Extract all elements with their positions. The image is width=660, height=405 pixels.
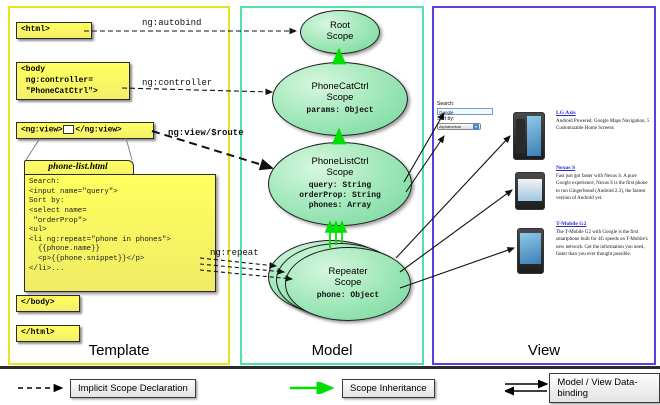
code-box-body-close: </body> — [16, 295, 80, 312]
panel-model-label: Model — [242, 342, 422, 359]
legend-label-implicit: Implicit Scope Declaration — [70, 379, 196, 398]
search-label: Search: — [437, 101, 499, 107]
legend: Implicit Scope Declaration Scope Inherit… — [0, 372, 660, 405]
chevron-down-icon: ▾ — [473, 124, 479, 130]
legend-item-databinding: Model / View Data-binding — [505, 378, 660, 398]
phone-thumbnail-lg-axis — [513, 112, 545, 160]
ngview-open-tag: <ng:view> — [21, 126, 62, 135]
listing-snippet-tmobile-g2: The T-Mobile G2 with Google is the first… — [556, 229, 652, 258]
legend-item-inheritance: Scope Inheritance — [290, 378, 435, 398]
listing-nexus-s: Nexus S Fast just got faster with Nexus … — [556, 165, 652, 202]
scope-root: RootScope — [300, 10, 380, 54]
legend-label-databinding: Model / View Data-binding — [549, 373, 660, 403]
scope-phonecatctrl: PhoneCatCtrlScope params: Object — [272, 62, 408, 136]
connector-label-view-route: ng:view/$route — [168, 128, 244, 138]
legend-label-inheritance: Scope Inheritance — [342, 379, 435, 398]
scope-repeater-props: phone: Object — [317, 291, 379, 301]
connector-label-controller: ng:controller — [142, 78, 212, 88]
legend-green-arrow-icon — [290, 382, 342, 394]
code-box-ngview: <ng:view></ng:view> — [16, 122, 154, 139]
scope-phonelistctrl-props: query: String orderProp: String phones: … — [299, 181, 381, 211]
scope-root-name: RootScope — [327, 21, 354, 42]
scope-phonecatctrl-props: params: Object — [306, 106, 373, 116]
ngview-close-tag: </ng:view> — [75, 126, 121, 135]
legend-divider — [0, 366, 660, 369]
listing-link-tmobile-g2[interactable]: T-Mobile G2 — [556, 221, 652, 227]
listing-link-lg-axis[interactable]: LG Axis — [556, 110, 652, 116]
code-box-body-open: <body ng:controller= "PhoneCatCtrl"> — [16, 62, 130, 100]
scope-repeater-name: RepeaterScope — [328, 267, 367, 288]
panel-template-label: Template — [10, 342, 228, 359]
legend-item-implicit: Implicit Scope Declaration — [18, 378, 196, 398]
connector-label-repeat: ng:repeat — [210, 248, 259, 258]
phone-list-note-code: Search: <input name="query"> Sort by: <s… — [24, 174, 216, 292]
listing-link-nexus-s[interactable]: Nexus S — [556, 165, 652, 171]
code-box-html-close: </html> — [16, 325, 80, 342]
scope-phonecatctrl-name: PhoneCatCtrlScope — [311, 82, 368, 103]
listing-tmobile-g2: T-Mobile G2 The T-Mobile G2 with Google … — [556, 221, 652, 258]
phone-list-note-title: phone-list.html — [24, 160, 132, 175]
listing-snippet-nexus-s: Fast just got faster with Nexus S. A pur… — [556, 173, 652, 202]
scope-phonelistctrl: PhoneListCtrlScope query: String orderPr… — [268, 142, 412, 226]
sort-select[interactable]: Alphabetical ▾ — [437, 123, 481, 130]
phone-thumbnail-tmobile-g2 — [517, 228, 544, 274]
legend-double-arrow-icon — [505, 380, 549, 396]
sort-select-value: Alphabetical — [439, 124, 461, 129]
search-form: Search: Google Sort by: Alphabetical ▾ — [437, 101, 499, 130]
scope-phonelistctrl-name: PhoneListCtrlScope — [311, 157, 368, 178]
search-input[interactable]: Google — [437, 108, 493, 115]
scope-repeater: RepeaterScope phone: Object — [285, 247, 411, 321]
connector-label-autobind: ng:autobind — [142, 18, 201, 28]
listing-lg-axis: LG Axis Android Powered, Google Maps Nav… — [556, 110, 652, 133]
code-box-html-open: <html> — [16, 22, 92, 39]
ngview-slot-icon — [63, 125, 74, 134]
panel-view-label: View — [434, 342, 654, 359]
sort-label: Sort by: — [437, 116, 499, 122]
phone-thumbnail-nexus-s — [515, 172, 545, 210]
legend-dashed-arrow-icon — [18, 382, 70, 394]
listing-snippet-lg-axis: Android Powered, Google Maps Navigation,… — [556, 118, 652, 133]
